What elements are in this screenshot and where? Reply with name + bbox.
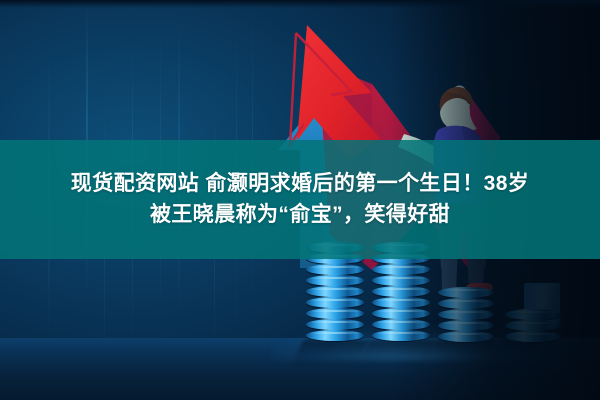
headline-banner: 现货配资网站 俞灏明求婚后的第一个生日！38岁 被王晓晨称为“俞宝”，笑得好甜 xyxy=(0,140,600,259)
screenshot-canvas: 现货配资网站 俞灏明求婚后的第一个生日！38岁 被王晓晨称为“俞宝”，笑得好甜 xyxy=(0,0,600,400)
coin xyxy=(306,319,364,330)
headline-line-2: 被王晓晨称为“俞宝”，笑得好甜 xyxy=(150,202,450,228)
coin xyxy=(306,275,364,286)
headline-line-1: 现货配资网站 俞灏明求婚后的第一个生日！38岁 xyxy=(71,171,529,197)
background-top-edge xyxy=(0,0,600,8)
coin xyxy=(306,308,364,319)
coin xyxy=(306,330,364,341)
coin xyxy=(306,297,364,308)
coin xyxy=(306,286,364,297)
coin xyxy=(306,264,364,275)
